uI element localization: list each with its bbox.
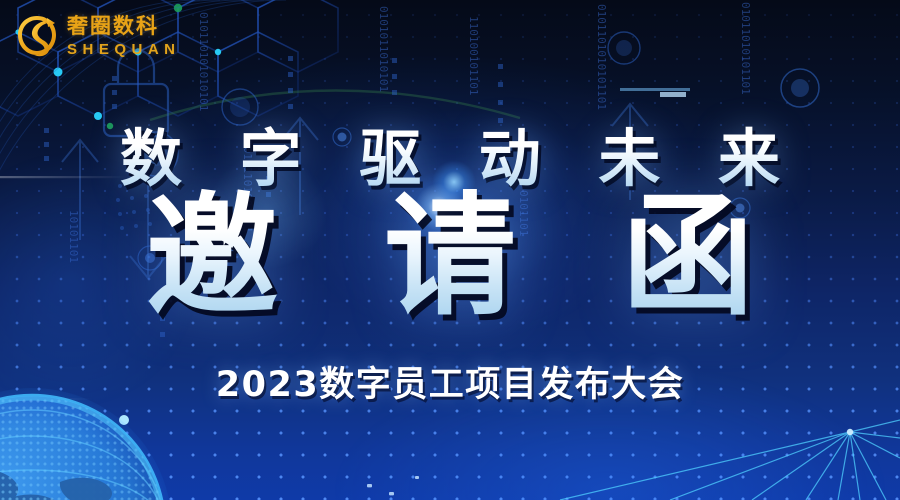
svg-text:01011010101101: 01011010101101	[739, 2, 752, 95]
shequan-emblem-icon	[14, 10, 60, 62]
logo-english-name: SHEQUAN	[67, 42, 181, 57]
digital-globe	[0, 378, 182, 500]
logo-chinese-name: 奢圈数科	[67, 16, 181, 37]
brand-logo: 奢圈数科 SHEQUAN	[14, 10, 181, 62]
light-rays	[520, 398, 900, 500]
page-title: 邀 请 函	[0, 186, 900, 329]
svg-text:0101011010101: 0101011010101	[377, 6, 390, 92]
svg-text:110100101101: 110100101101	[467, 16, 480, 95]
invitation-poster: 010110101010101 10101101001011 010101101…	[0, 0, 900, 500]
svg-text:010110101010101: 010110101010101	[197, 12, 210, 111]
svg-text:0101101010101101: 0101101010101101	[595, 4, 608, 110]
